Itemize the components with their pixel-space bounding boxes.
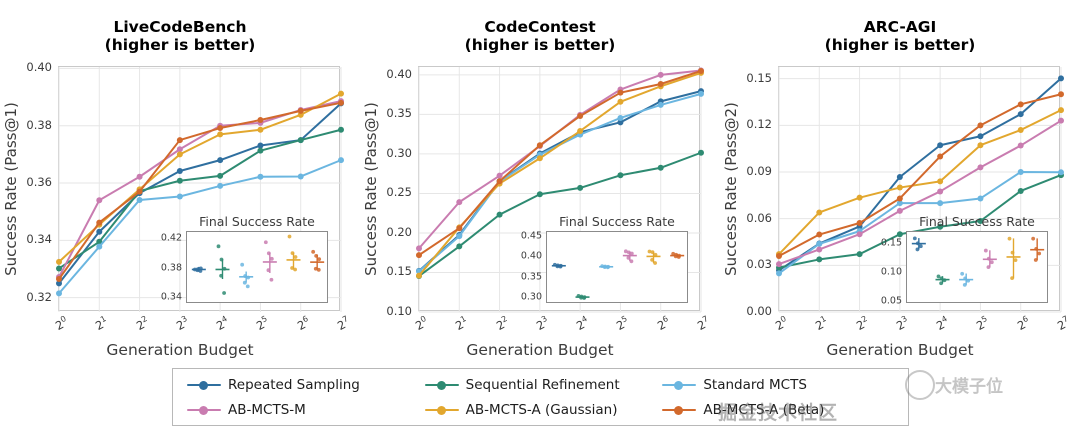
x-axis-tick: 23 <box>173 314 191 333</box>
legend-item-ab_mcts_a_beta[interactable]: AB-MCTS-A (Beta) <box>662 402 900 418</box>
y-axis-tick: 0.38 <box>26 118 52 132</box>
legend-item-ab_mcts_a_gaussian[interactable]: AB-MCTS-A (Gaussian) <box>425 402 663 418</box>
y-axis-tick: 0.25 <box>386 185 412 199</box>
panel-title-main: LiveCodeBench <box>113 18 246 36</box>
inset-title: Final Success Rate <box>898 214 1056 229</box>
panel-title-sub: (higher is better) <box>360 36 720 54</box>
x-axis-tick: 24 <box>574 314 592 333</box>
x-axis-label: Generation Budget <box>360 341 720 359</box>
inset-y-axis-tick: 0.05 <box>881 295 902 306</box>
x-axis-tick: 27 <box>335 314 353 333</box>
inset-plot <box>906 231 1048 303</box>
inset-title: Final Success Rate <box>178 214 336 229</box>
x-axis-tick: 25 <box>614 314 632 333</box>
inset-y-axis-tick: 0.45 <box>521 230 542 241</box>
panel-title-main: ARC-AGI <box>864 18 937 36</box>
inset-y-axis-tick: 0.38 <box>161 262 182 273</box>
inset-y-axis-tick: 0.10 <box>881 266 902 277</box>
panel-title-main: CodeContest <box>484 18 595 36</box>
panel-title-sub: (higher is better) <box>0 36 360 54</box>
y-axis-tick: 0.40 <box>26 60 52 74</box>
x-axis-tick: 25 <box>974 314 992 333</box>
x-axis-tick: 22 <box>853 314 871 333</box>
inset-plot <box>186 231 328 303</box>
x-axis-tick: 23 <box>893 314 911 333</box>
y-axis-tick: 0.34 <box>26 232 52 246</box>
y-axis-tick: 0.00 <box>746 304 772 318</box>
y-axis-tick: 0.36 <box>26 175 52 189</box>
inset-svg <box>547 232 689 304</box>
legend-item-sequential_refinement[interactable]: Sequential Refinement <box>425 377 663 393</box>
y-axis-tick: 0.35 <box>386 106 412 120</box>
x-axis-tick: 24 <box>934 314 952 333</box>
legend-item-label: Repeated Sampling <box>228 377 360 393</box>
x-axis-tick: 26 <box>1014 314 1032 333</box>
y-axis-label: Success Rate (Pass@1) <box>2 102 20 276</box>
legend-item-ab_mcts_m[interactable]: AB-MCTS-M <box>187 402 425 418</box>
y-axis-tick: 0.30 <box>386 146 412 160</box>
legend: Repeated SamplingSequential RefinementSt… <box>172 368 909 426</box>
y-axis-tick: 0.06 <box>746 211 772 225</box>
inset-y-axis-tick: 0.35 <box>521 271 542 282</box>
legend-marker-icon <box>662 404 696 416</box>
y-axis-tick: 0.20 <box>386 225 412 239</box>
x-axis-tick: 23 <box>533 314 551 333</box>
x-axis-tick: 20 <box>773 314 791 333</box>
legend-item-repeated_sampling[interactable]: Repeated Sampling <box>187 377 425 393</box>
inset-y-axis-tick: 0.30 <box>521 291 542 302</box>
x-axis-label: Generation Budget <box>0 341 360 359</box>
panel-title: ARC-AGI (higher is better) <box>720 18 1080 55</box>
x-axis-tick: 25 <box>254 314 272 333</box>
y-axis-label: Success Rate (Pass@2) <box>722 102 740 276</box>
panel-title: LiveCodeBench (higher is better) <box>0 18 360 55</box>
panels-container: LiveCodeBench (higher is better) Success… <box>0 0 1080 368</box>
y-axis-tick: 0.15 <box>746 71 772 85</box>
legend-marker-icon <box>425 379 459 391</box>
inset-y-axis-tick: 0.42 <box>161 233 182 244</box>
inset-svg <box>907 232 1049 304</box>
y-axis-tick: 0.32 <box>26 290 52 304</box>
x-axis-tick: 27 <box>1055 314 1073 333</box>
legend-item-label: Standard MCTS <box>703 377 807 393</box>
legend-marker-icon <box>187 379 221 391</box>
panel-title-sub: (higher is better) <box>720 36 1080 54</box>
y-axis-tick: 0.12 <box>746 117 772 131</box>
legend-item-label: Sequential Refinement <box>466 377 620 393</box>
legend-item-label: AB-MCTS-A (Beta) <box>703 402 824 418</box>
legend-item-label: AB-MCTS-M <box>228 402 306 418</box>
inset-y-axis-tick: 0.34 <box>161 292 182 303</box>
inset-title: Final Success Rate <box>538 214 696 229</box>
x-axis-tick: 21 <box>453 314 471 333</box>
x-axis-tick: 26 <box>294 314 312 333</box>
panel-codecontest: CodeContest (higher is better) Success R… <box>360 0 720 368</box>
x-axis-tick: 27 <box>695 314 713 333</box>
legend-marker-icon <box>662 379 696 391</box>
x-axis-tick: 20 <box>413 314 431 333</box>
inset-y-axis-tick: 0.40 <box>521 251 542 262</box>
panel-livecodebench: LiveCodeBench (higher is better) Success… <box>0 0 360 368</box>
y-axis-tick: 0.09 <box>746 164 772 178</box>
x-axis-tick: 22 <box>493 314 511 333</box>
watermark-badge-icon <box>905 370 935 400</box>
inset-plot <box>546 231 688 303</box>
legend-item-standard_mcts[interactable]: Standard MCTS <box>662 377 900 393</box>
legend-marker-icon <box>187 404 221 416</box>
x-axis-tick: 22 <box>133 314 151 333</box>
legend-marker-icon <box>425 404 459 416</box>
x-axis-tick: 21 <box>813 314 831 333</box>
y-axis-tick: 0.40 <box>386 67 412 81</box>
x-axis-tick: 21 <box>93 314 111 333</box>
panel-title: CodeContest (higher is better) <box>360 18 720 55</box>
figure-root: LiveCodeBench (higher is better) Success… <box>0 0 1080 435</box>
y-axis-label: Success Rate (Pass@1) <box>362 102 380 276</box>
legend-item-label: AB-MCTS-A (Gaussian) <box>466 402 618 418</box>
y-axis-tick: 0.03 <box>746 257 772 271</box>
x-axis-tick: 20 <box>53 314 71 333</box>
y-axis-tick: 0.10 <box>386 304 412 318</box>
x-axis-tick: 26 <box>654 314 672 333</box>
inset-y-axis-tick: 0.15 <box>881 237 902 248</box>
y-axis-tick: 0.15 <box>386 264 412 278</box>
panel-arc-agi: ARC-AGI (higher is better) Success Rate … <box>720 0 1080 368</box>
inset-svg <box>187 232 329 304</box>
x-axis-tick: 24 <box>214 314 232 333</box>
x-axis-label: Generation Budget <box>720 341 1080 359</box>
watermark-side: 大模子位 <box>935 372 1003 397</box>
